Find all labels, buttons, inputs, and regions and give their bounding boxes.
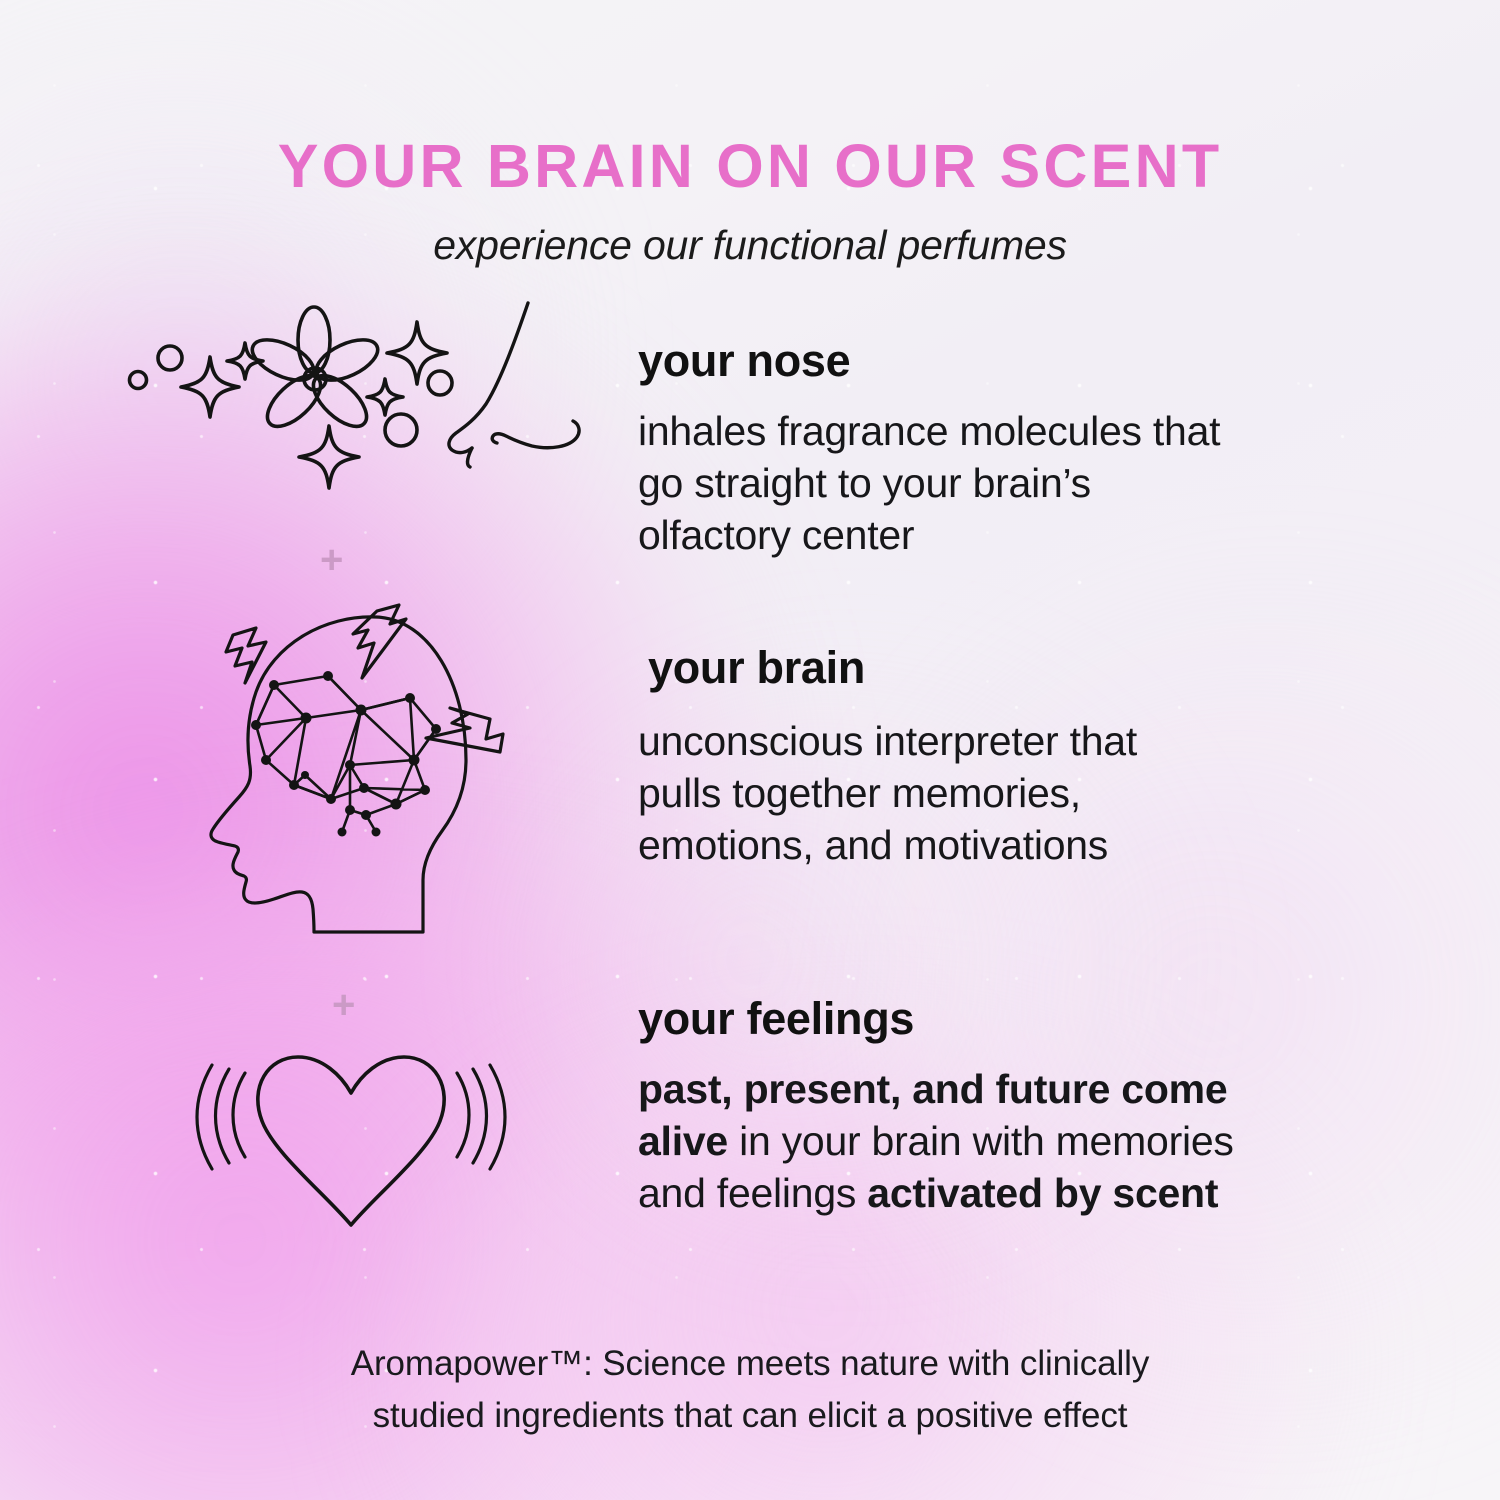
body-line: unconscious interpreter that [638, 715, 1137, 767]
brain-head-network-icon [190, 600, 520, 950]
section-body-nose: inhales fragrance molecules that go stra… [638, 405, 1220, 561]
sparkle-small-right [367, 379, 403, 415]
footer-line: studied ingredients that can elicit a po… [0, 1390, 1500, 1442]
body-line: olfactory center [638, 509, 1220, 561]
body-emphasis: past, present, and future come [638, 1066, 1227, 1112]
bubble-tiny [130, 372, 147, 389]
footer-note: Aromapower™: Science meets nature with c… [0, 1338, 1500, 1442]
flower-icon [246, 307, 383, 435]
section-body-feelings: past, present, and future come alive in … [638, 1063, 1234, 1219]
body-line: and feelings activated by scent [638, 1167, 1234, 1219]
infographic-canvas: YOUR BRAIN ON OUR SCENT experience our f… [0, 0, 1500, 1500]
body-emphasis: alive [638, 1118, 728, 1164]
bubble-small [158, 346, 182, 370]
nose-profile-icon [449, 303, 579, 467]
sparkle-large-bottom [299, 426, 359, 488]
heart-vibration-icon [196, 1043, 506, 1253]
body-line: past, present, and future come [638, 1063, 1234, 1115]
sparkle-top-right [387, 322, 447, 384]
section-heading-brain: your brain [648, 645, 865, 690]
section-heading-nose: your nose [638, 338, 850, 383]
section-heading-feelings: your feelings [638, 996, 914, 1041]
nose-scent-icon [118, 300, 598, 500]
body-line: go straight to your brain’s [638, 457, 1220, 509]
sparkle-large-left [181, 357, 239, 417]
bubble-mid [428, 371, 452, 395]
bubble-large [385, 414, 417, 446]
brain-network [251, 671, 441, 837]
body-line: pulls together memories, [638, 767, 1137, 819]
footer-line: Aromapower™: Science meets nature with c… [0, 1338, 1500, 1390]
body-line: emotions, and motivations [638, 819, 1137, 871]
plus-separator-1: + [320, 540, 343, 580]
lightning-bolt-left [226, 628, 266, 683]
heart-outline [258, 1057, 444, 1225]
body-text: and feelings [638, 1170, 867, 1216]
vibration-arcs-left [197, 1065, 245, 1169]
page-subtitle: experience our functional perfumes [0, 225, 1500, 266]
body-line: alive in your brain with memories [638, 1115, 1234, 1167]
section-body-brain: unconscious interpreter that pulls toget… [638, 715, 1137, 871]
body-text: in your brain with memories [728, 1118, 1234, 1164]
plus-separator-2: + [332, 985, 355, 1025]
body-line: inhales fragrance molecules that [638, 405, 1220, 457]
body-emphasis: activated by scent [867, 1170, 1218, 1216]
sparkle-small-left [227, 343, 263, 379]
page-title: YOUR BRAIN ON OUR SCENT [0, 136, 1500, 197]
vibration-arcs-right [457, 1065, 505, 1169]
